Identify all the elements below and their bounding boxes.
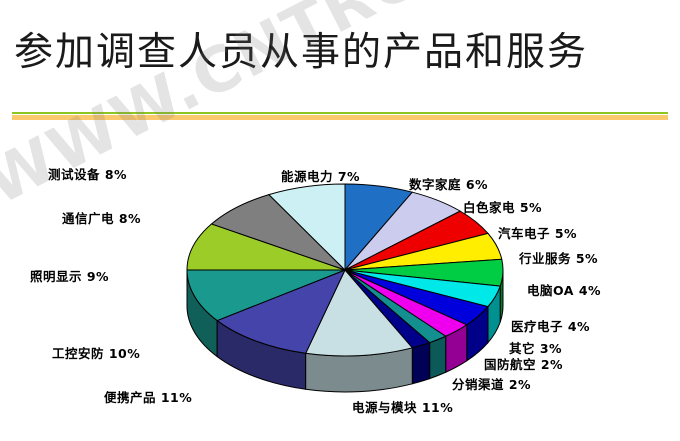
pie-label-工控安防: 工控安防 10% <box>52 343 140 362</box>
pie-label-医疗电子: 医疗电子 4% <box>511 316 590 335</box>
pie-label-白色家电: 白色家电 5% <box>463 197 542 216</box>
page-title: 参加调查人员从事的产品和服务 <box>14 26 666 80</box>
pie-slice-side-分销渠道 <box>412 343 429 384</box>
pie-label-照明显示: 照明显示 9% <box>30 266 109 285</box>
pie-label-通信广电: 通信广电 8% <box>62 208 141 227</box>
pie-label-能源电力: 能源电力 7% <box>281 166 360 185</box>
pie-label-便携产品: 便携产品 11% <box>104 387 192 406</box>
pie-label-电脑OA: 电脑OA 4% <box>527 280 601 299</box>
title-divider-green <box>12 112 668 114</box>
pie-label-测试设备: 测试设备 8% <box>48 164 127 183</box>
pie-label-汽车电子: 汽车电子 5% <box>498 223 577 242</box>
pie-label-分销渠道: 分销渠道 2% <box>452 374 531 393</box>
pie-label-行业服务: 行业服务 5% <box>519 248 598 267</box>
pie-label-数字家庭: 数字家庭 6% <box>409 174 488 193</box>
pie-label-电源与模块: 电源与模块 11% <box>352 397 453 416</box>
slide-canvas: 参加调查人员从事的产品和服务 测试设备 8% 通信广电 8% 照明显示 9% 工… <box>0 0 680 441</box>
title-divider-orange <box>12 115 668 120</box>
pie-slice-side-国防航空 <box>430 336 446 378</box>
pie-label-国防航空: 国防航空 2% <box>484 354 563 373</box>
pie-chart: 测试设备 8% 通信广电 8% 照明显示 9% 工控安防 10% 便携产品 11… <box>0 124 680 441</box>
